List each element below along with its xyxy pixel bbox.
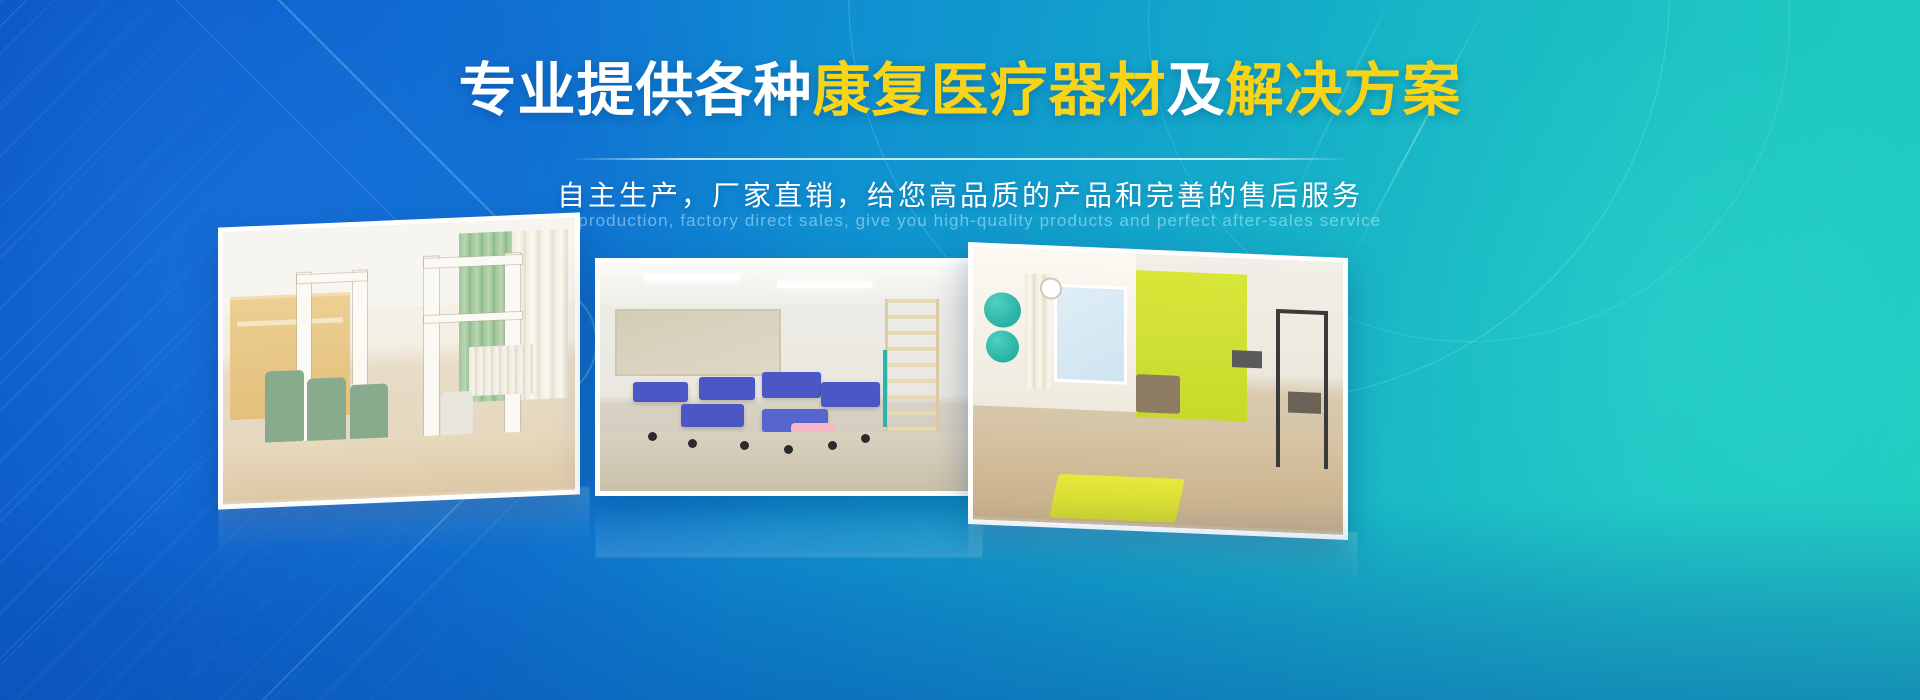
photo-card-therapy-hall — [595, 258, 973, 496]
photo-image-rehab-training-room — [223, 218, 575, 505]
promo-banner: 专业提供各种康复医疗器材及解决方案 自主生产，厂家直销，给您高品质的产品和完善的… — [0, 0, 1920, 700]
photo-card-rehab-training-room — [218, 212, 580, 509]
photo-image-therapy-hall — [600, 263, 968, 491]
photo-card-gym-equipment — [968, 242, 1348, 540]
photo-image-gym-equipment — [973, 247, 1343, 535]
bottom-vignette — [0, 500, 1920, 700]
